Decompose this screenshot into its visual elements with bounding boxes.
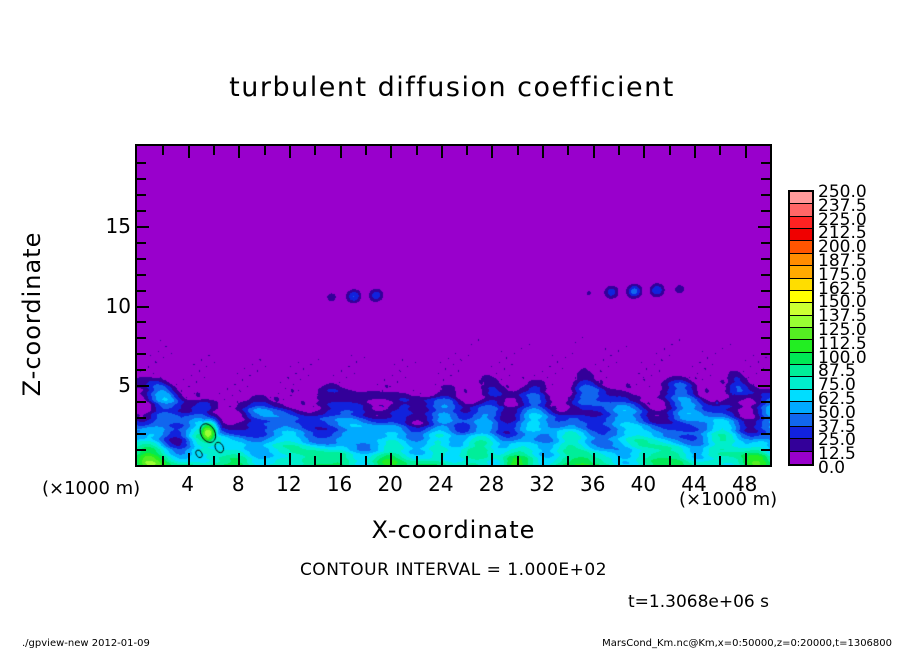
y-tick-right xyxy=(758,385,770,387)
colorbar-band xyxy=(790,192,812,204)
colorbar-band xyxy=(790,439,812,451)
x-tick-top xyxy=(466,146,468,155)
colorbar-band xyxy=(790,229,812,241)
x-tick-bottom xyxy=(593,453,595,465)
y-axis-title: Z-coordinate xyxy=(18,214,46,414)
x-tick-top xyxy=(213,146,215,155)
y-tick-right xyxy=(761,369,770,371)
x-tick-top xyxy=(542,146,544,158)
y-tick-left xyxy=(137,274,146,276)
x-tick-bottom xyxy=(542,453,544,465)
footer-source-label: MarsCond_Km.nc@Km,x=0:50000,z=0:20000,t=… xyxy=(602,638,892,649)
x-tick-top xyxy=(517,146,519,155)
colorbar-band xyxy=(790,204,812,216)
y-tick-left xyxy=(137,369,146,371)
x-tick-bottom xyxy=(365,456,367,465)
time-stamp-label: t=1.3068e+06 s xyxy=(628,592,769,612)
y-tick-left xyxy=(137,178,146,180)
colorbar-tick-labels: 250.0237.5225.0212.5200.0187.5175.0162.5… xyxy=(818,183,898,473)
x-tick-bottom xyxy=(314,456,316,465)
x-tick-bottom xyxy=(669,456,671,465)
x-tick-bottom xyxy=(745,453,747,465)
x-tick-bottom xyxy=(264,456,266,465)
colorbar-band xyxy=(790,241,812,253)
heatmap-field xyxy=(137,146,770,465)
x-tick-top xyxy=(441,146,443,158)
y-tick-left xyxy=(137,353,146,355)
colorbar-band xyxy=(790,340,812,352)
y-tick-right xyxy=(761,178,770,180)
y-tick-right xyxy=(758,306,770,308)
y-tick-right xyxy=(761,353,770,355)
y-tick-left xyxy=(137,321,146,323)
x-tick-label: 32 xyxy=(529,472,554,496)
x-tick-label: 36 xyxy=(580,472,605,496)
x-tick-top xyxy=(365,146,367,155)
plot-area xyxy=(135,144,772,467)
y-tick-left xyxy=(137,449,146,451)
y-tick-right xyxy=(761,417,770,419)
x-tick-label: 8 xyxy=(232,472,245,496)
x-tick-bottom xyxy=(719,456,721,465)
x-tick-bottom xyxy=(416,456,418,465)
colorbar-band xyxy=(790,377,812,389)
x-tick-top xyxy=(314,146,316,155)
colorbar-band xyxy=(790,303,812,315)
x-tick-bottom xyxy=(694,453,696,465)
y-tick-right xyxy=(758,226,770,228)
x-tick-label: 4 xyxy=(181,472,194,496)
x-tick-bottom xyxy=(340,453,342,465)
x-tick-label: 16 xyxy=(327,472,352,496)
colorbar-level-label: 0.0 xyxy=(818,460,845,477)
colorbar-band xyxy=(790,217,812,229)
colorbar-band xyxy=(790,390,812,402)
x-tick-bottom xyxy=(466,456,468,465)
x-tick-bottom xyxy=(643,453,645,465)
footer-command-label: ./gpview-new 2012-01-09 xyxy=(22,638,150,649)
colorbar-band xyxy=(790,291,812,303)
y-tick-right xyxy=(761,274,770,276)
x-tick-top xyxy=(491,146,493,158)
x-axis-unit: (×1000 m) xyxy=(679,489,777,510)
x-tick-top xyxy=(390,146,392,158)
x-tick-bottom xyxy=(517,456,519,465)
contour-interval-label: CONTOUR INTERVAL = 1.000E+02 xyxy=(135,560,772,580)
y-tick-right xyxy=(761,433,770,435)
y-tick-label: 10 xyxy=(106,294,131,318)
x-tick-label: 24 xyxy=(428,472,453,496)
colorbar-band xyxy=(790,353,812,365)
y-tick-right xyxy=(761,162,770,164)
y-tick-right xyxy=(761,290,770,292)
x-axis-title: X-coordinate xyxy=(135,516,772,544)
x-tick-bottom xyxy=(390,453,392,465)
y-tick-left xyxy=(137,226,149,228)
x-tick-label: 20 xyxy=(377,472,402,496)
colorbar-band xyxy=(790,266,812,278)
x-tick-bottom xyxy=(213,456,215,465)
y-tick-left xyxy=(137,258,146,260)
x-tick-top xyxy=(694,146,696,158)
x-tick-label: 40 xyxy=(631,472,656,496)
y-tick-left xyxy=(137,194,146,196)
colorbar xyxy=(788,190,814,466)
colorbar-band xyxy=(790,328,812,340)
colorbar-band xyxy=(790,452,812,464)
y-tick-label: 15 xyxy=(106,214,131,238)
y-tick-label: 5 xyxy=(118,373,131,397)
x-tick-top xyxy=(618,146,620,155)
x-tick-label: 12 xyxy=(276,472,301,496)
y-tick-left xyxy=(137,210,146,212)
y-tick-left xyxy=(137,242,146,244)
y-tick-left xyxy=(137,337,146,339)
colorbar-band xyxy=(790,365,812,377)
x-tick-top xyxy=(238,146,240,158)
colorbar-band xyxy=(790,316,812,328)
x-tick-top xyxy=(643,146,645,158)
x-tick-top xyxy=(669,146,671,155)
x-tick-bottom xyxy=(491,453,493,465)
colorbar-band xyxy=(790,254,812,266)
page-title: turbulent diffusion coefficient xyxy=(0,72,904,103)
x-tick-top xyxy=(162,146,164,155)
y-tick-right xyxy=(761,401,770,403)
x-tick-bottom xyxy=(188,453,190,465)
x-tick-bottom xyxy=(238,453,240,465)
colorbar-band xyxy=(790,402,812,414)
colorbar-band xyxy=(790,427,812,439)
y-tick-left xyxy=(137,385,149,387)
x-tick-top xyxy=(745,146,747,158)
y-axis-unit: (×1000 m) xyxy=(42,478,140,499)
y-tick-right xyxy=(761,258,770,260)
y-tick-right xyxy=(761,210,770,212)
x-tick-top xyxy=(340,146,342,158)
y-tick-right xyxy=(761,194,770,196)
y-tick-right xyxy=(761,242,770,244)
x-tick-top xyxy=(188,146,190,158)
y-tick-right xyxy=(761,337,770,339)
x-tick-bottom xyxy=(162,456,164,465)
x-tick-label: 28 xyxy=(479,472,504,496)
y-tick-left xyxy=(137,433,146,435)
x-tick-bottom xyxy=(567,456,569,465)
x-tick-top xyxy=(567,146,569,155)
y-tick-left xyxy=(137,306,149,308)
colorbar-band xyxy=(790,414,812,426)
y-tick-left xyxy=(137,417,146,419)
x-tick-bottom xyxy=(289,453,291,465)
y-tick-left xyxy=(137,290,146,292)
x-tick-top xyxy=(416,146,418,155)
x-tick-top xyxy=(719,146,721,155)
x-tick-top xyxy=(289,146,291,158)
y-tick-right xyxy=(761,321,770,323)
x-tick-top xyxy=(593,146,595,158)
y-tick-left xyxy=(137,401,146,403)
x-tick-bottom xyxy=(441,453,443,465)
colorbar-band xyxy=(790,279,812,291)
y-tick-right xyxy=(761,449,770,451)
y-tick-left xyxy=(137,162,146,164)
x-tick-bottom xyxy=(618,456,620,465)
x-tick-top xyxy=(264,146,266,155)
y-tick-labels: 51015 xyxy=(95,144,131,467)
